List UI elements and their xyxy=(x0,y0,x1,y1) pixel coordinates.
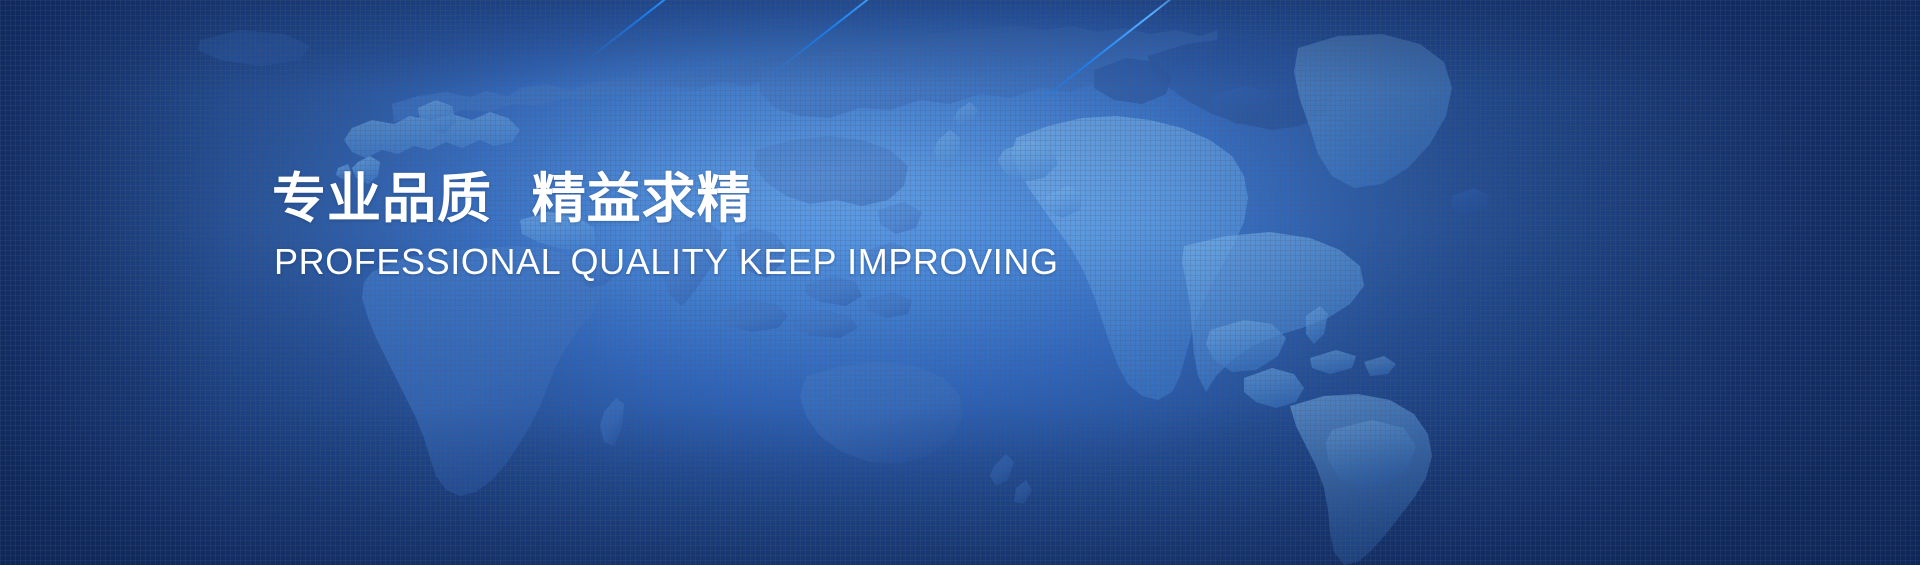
headline-english: PROFESSIONAL QUALITY KEEP IMPROVING xyxy=(274,242,1059,282)
headline-chinese: 专业品质 精益求精 xyxy=(272,170,1059,228)
hero-banner: 专业品质 精益求精 PROFESSIONAL QUALITY KEEP IMPR… xyxy=(0,0,1920,565)
diagonal-light-streak-1 xyxy=(585,0,756,62)
diagonal-light-streak-2 xyxy=(765,0,951,80)
diagonal-light-streak-3 xyxy=(1029,0,1200,110)
banner-text-block: 专业品质 精益求精 PROFESSIONAL QUALITY KEEP IMPR… xyxy=(272,170,1059,283)
